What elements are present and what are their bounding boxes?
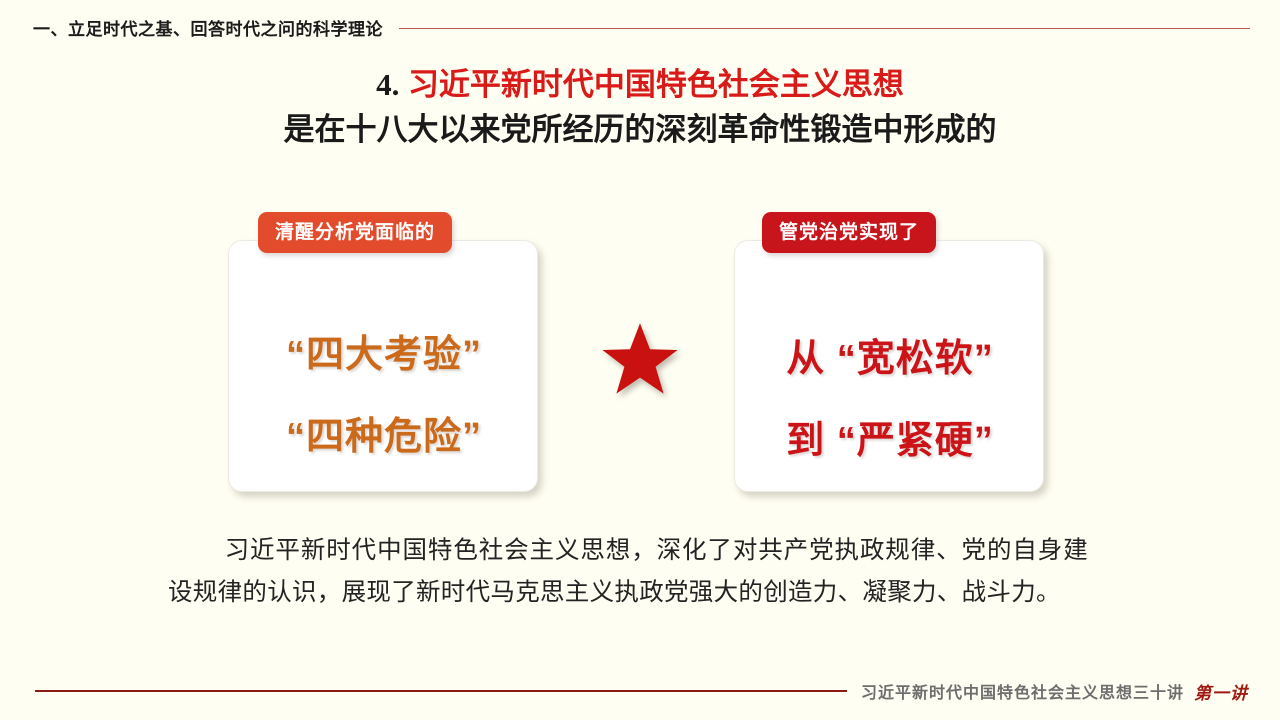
- title-line-2: 是在十八大以来党所经历的深刻革命性锻造中形成的: [0, 108, 1280, 152]
- slide-footer: 习近平新时代中国特色社会主义思想三十讲 第一讲: [0, 674, 1280, 708]
- header-divider-line: [399, 28, 1250, 29]
- card-left-line-2: “四种危险”: [229, 405, 539, 460]
- footer-lecture-number: 第一讲: [1194, 679, 1248, 704]
- page-title: 4. 习近平新时代中国特色社会主义思想 是在十八大以来党所经历的深刻革命性锻造中…: [0, 64, 1280, 152]
- header-section-title: 一、立足时代之基、回答时代之问的科学理论: [33, 15, 383, 40]
- slide-header: 一、立足时代之基、回答时代之问的科学理论: [0, 10, 1280, 44]
- footer-divider-line: [35, 690, 847, 692]
- card-strict-governance[interactable]: 从 “宽松软” 到 “严紧硬”: [734, 240, 1044, 492]
- badge-right: 管党治党实现了: [762, 212, 936, 253]
- card-right-line-1: 从 “宽松软”: [735, 327, 1045, 382]
- card-four-tests[interactable]: “四大考验” “四种危险”: [228, 240, 538, 492]
- badge-left: 清醒分析党面临的: [258, 212, 452, 253]
- card-right-line-2: 到 “严紧硬”: [735, 409, 1045, 464]
- title-line-1: 4. 习近平新时代中国特色社会主义思想: [0, 64, 1280, 106]
- footer-series-title: 习近平新时代中国特色社会主义思想三十讲: [861, 679, 1184, 703]
- paragraph-text: 习近平新时代中国特色社会主义思想，深化了对共产党执政规律、党的自身建设规律的认识…: [168, 537, 1088, 606]
- title-highlight: 习近平新时代中国特色社会主义思想: [408, 67, 904, 102]
- card-left-line-1: “四大考验”: [229, 323, 539, 378]
- body-paragraph: 习近平新时代中国特色社会主义思想，深化了对共产党执政规律、党的自身建设规律的认识…: [168, 530, 1088, 614]
- red-star-icon: [600, 320, 680, 400]
- title-number: 4.: [376, 67, 399, 102]
